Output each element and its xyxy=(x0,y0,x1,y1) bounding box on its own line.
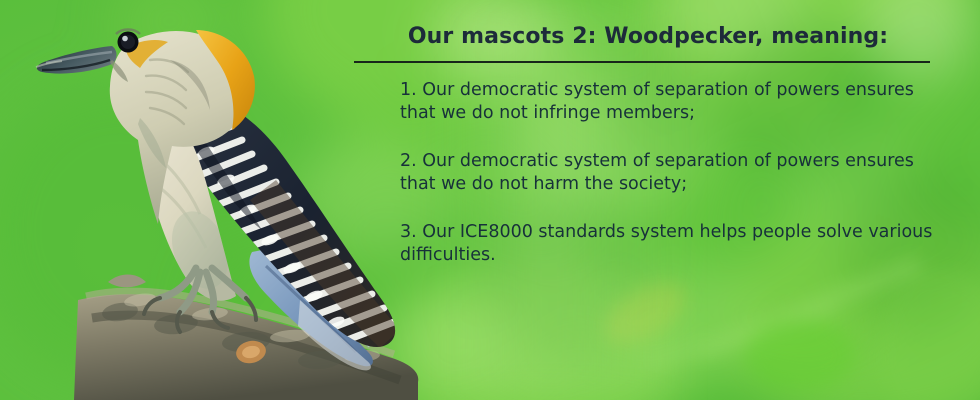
list-item: 2. Our democratic system of separation o… xyxy=(400,150,940,196)
page-title: Our mascots 2: Woodpecker, meaning: xyxy=(352,24,952,49)
mascot-meaning-list: 1. Our democratic system of separation o… xyxy=(400,79,952,267)
list-item: 1. Our democratic system of separation o… xyxy=(400,79,940,125)
list-item: 3. Our ICE8000 standards system helps pe… xyxy=(400,221,940,267)
banner-text-column: Our mascots 2: Woodpecker, meaning: 1. O… xyxy=(352,24,952,267)
title-divider xyxy=(354,61,930,63)
mascot-banner: Our mascots 2: Woodpecker, meaning: 1. O… xyxy=(0,0,980,400)
